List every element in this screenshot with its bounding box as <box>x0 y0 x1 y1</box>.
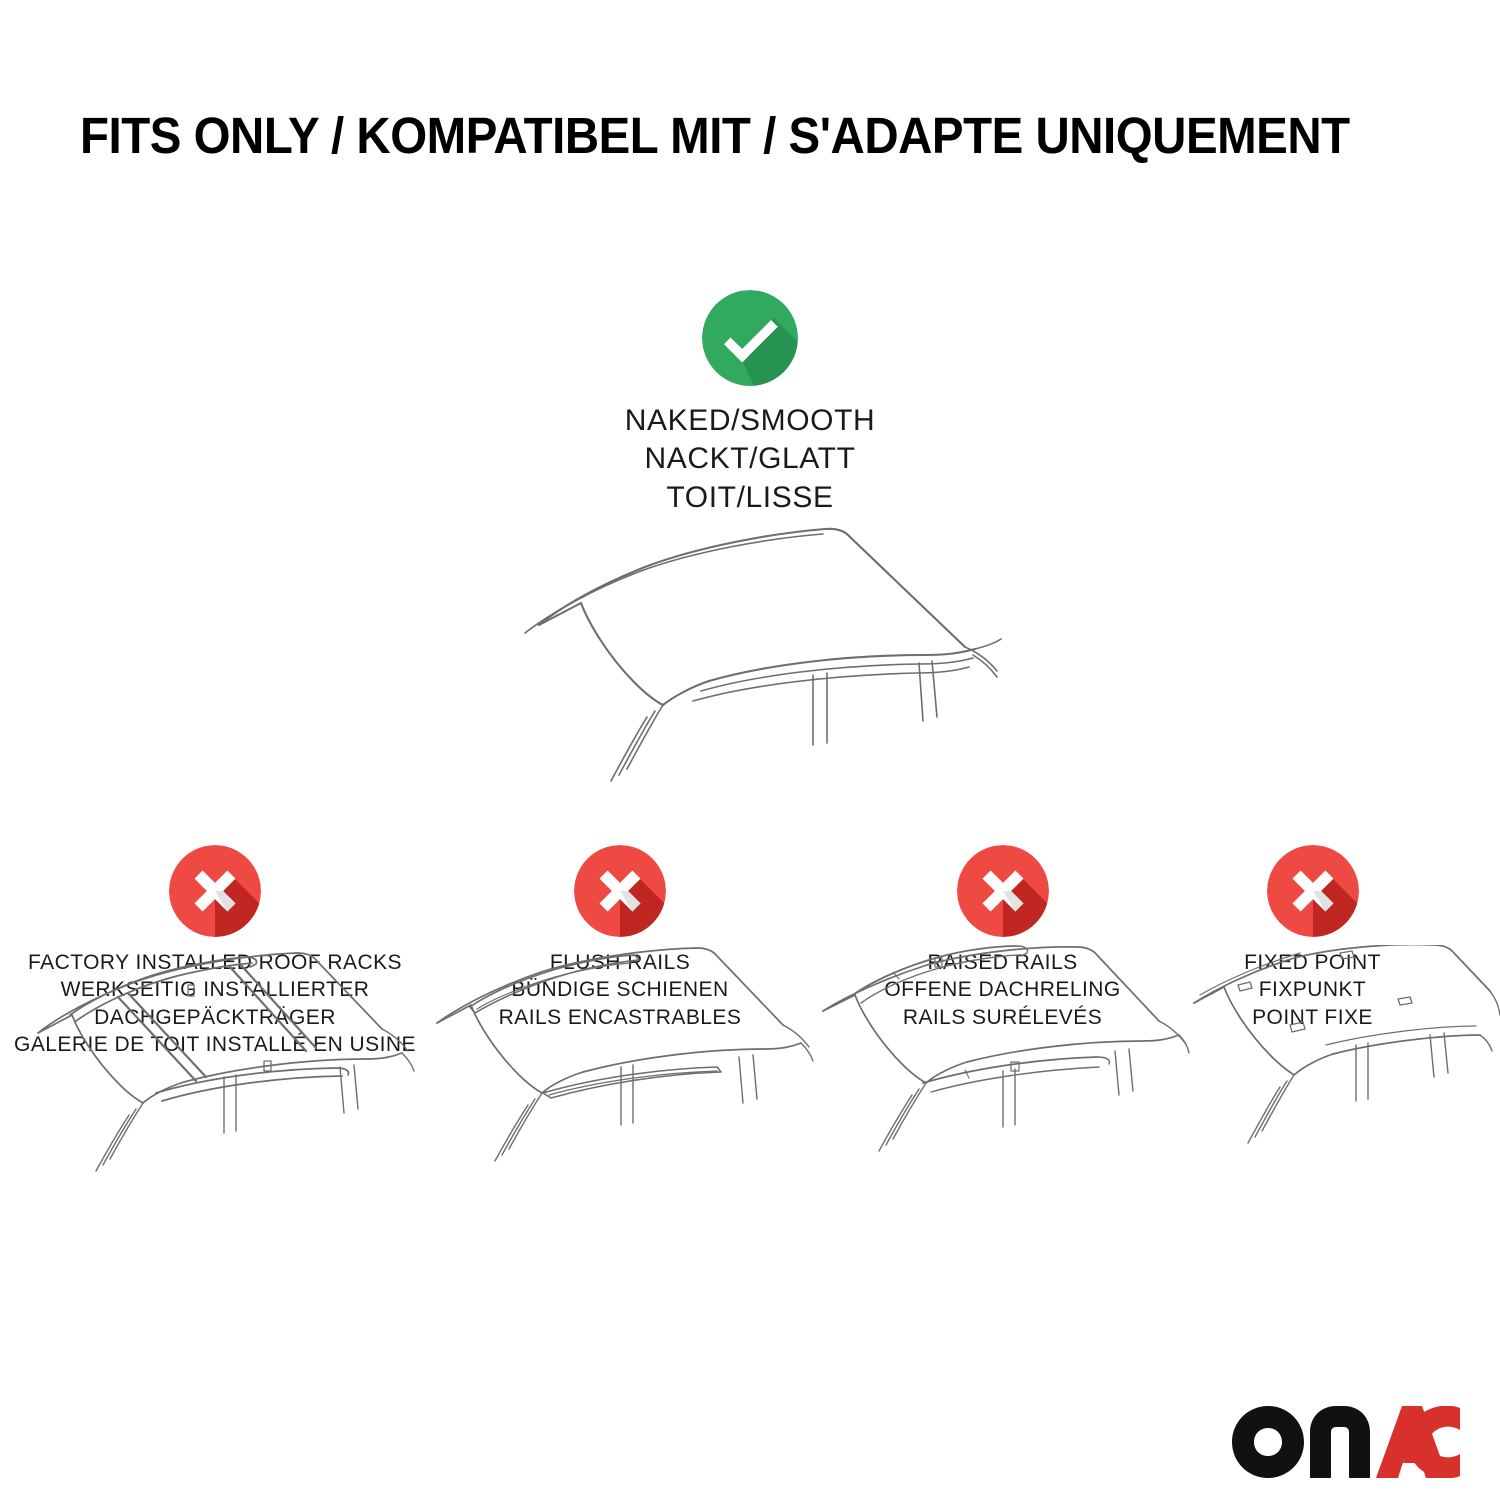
fitment-infographic: FITS ONLY / KOMPATIBEL MIT / S'ADAPTE UN… <box>0 0 1500 1500</box>
omac-logo <box>1232 1404 1460 1480</box>
approved-fitment-block: NAKED/SMOOTH NACKT/GLATT TOIT/LISSE <box>450 290 1050 517</box>
x-circle-icon <box>957 845 1049 937</box>
approved-caption-line-1: NAKED/SMOOTH <box>450 402 1050 440</box>
rejected-item-fixed-point: FIXED POINT FIXPUNKT POINT FIXE <box>1190 845 1435 1031</box>
rejected-item-flush-rails: FLUSH RAILS BÜNDIGE SCHIENEN RAILS ENCAS… <box>425 845 815 1031</box>
car-roof-factory-racks-illustration <box>10 945 420 1190</box>
approved-caption-line-3: TOIT/LISSE <box>450 479 1050 517</box>
approved-caption-line-2: NACKT/GLATT <box>450 440 1050 478</box>
check-circle-icon <box>702 290 798 386</box>
car-roof-raised-rails-illustration <box>815 945 1190 1190</box>
x-circle-icon <box>169 845 261 937</box>
car-roof-flush-rails-illustration <box>425 945 815 1190</box>
approved-caption: NAKED/SMOOTH NACKT/GLATT TOIT/LISSE <box>450 402 1050 517</box>
car-roof-naked-smooth-illustration <box>495 515 1055 815</box>
x-circle-icon <box>1267 845 1359 937</box>
car-roof-fixed-point-illustration <box>1190 945 1435 1190</box>
rejected-item-raised-rails: RAISED RAILS OFFENE DACHRELING RAILS SUR… <box>815 845 1190 1031</box>
rejected-fitment-row: FACTORY INSTALLED ROOF RACKS WERKSEITIG … <box>0 845 1500 1285</box>
page-title: FITS ONLY / KOMPATIBEL MIT / S'ADAPTE UN… <box>80 108 1345 164</box>
x-circle-icon <box>574 845 666 937</box>
rejected-item-factory-racks: FACTORY INSTALLED ROOF RACKS WERKSEITIG … <box>10 845 420 1058</box>
